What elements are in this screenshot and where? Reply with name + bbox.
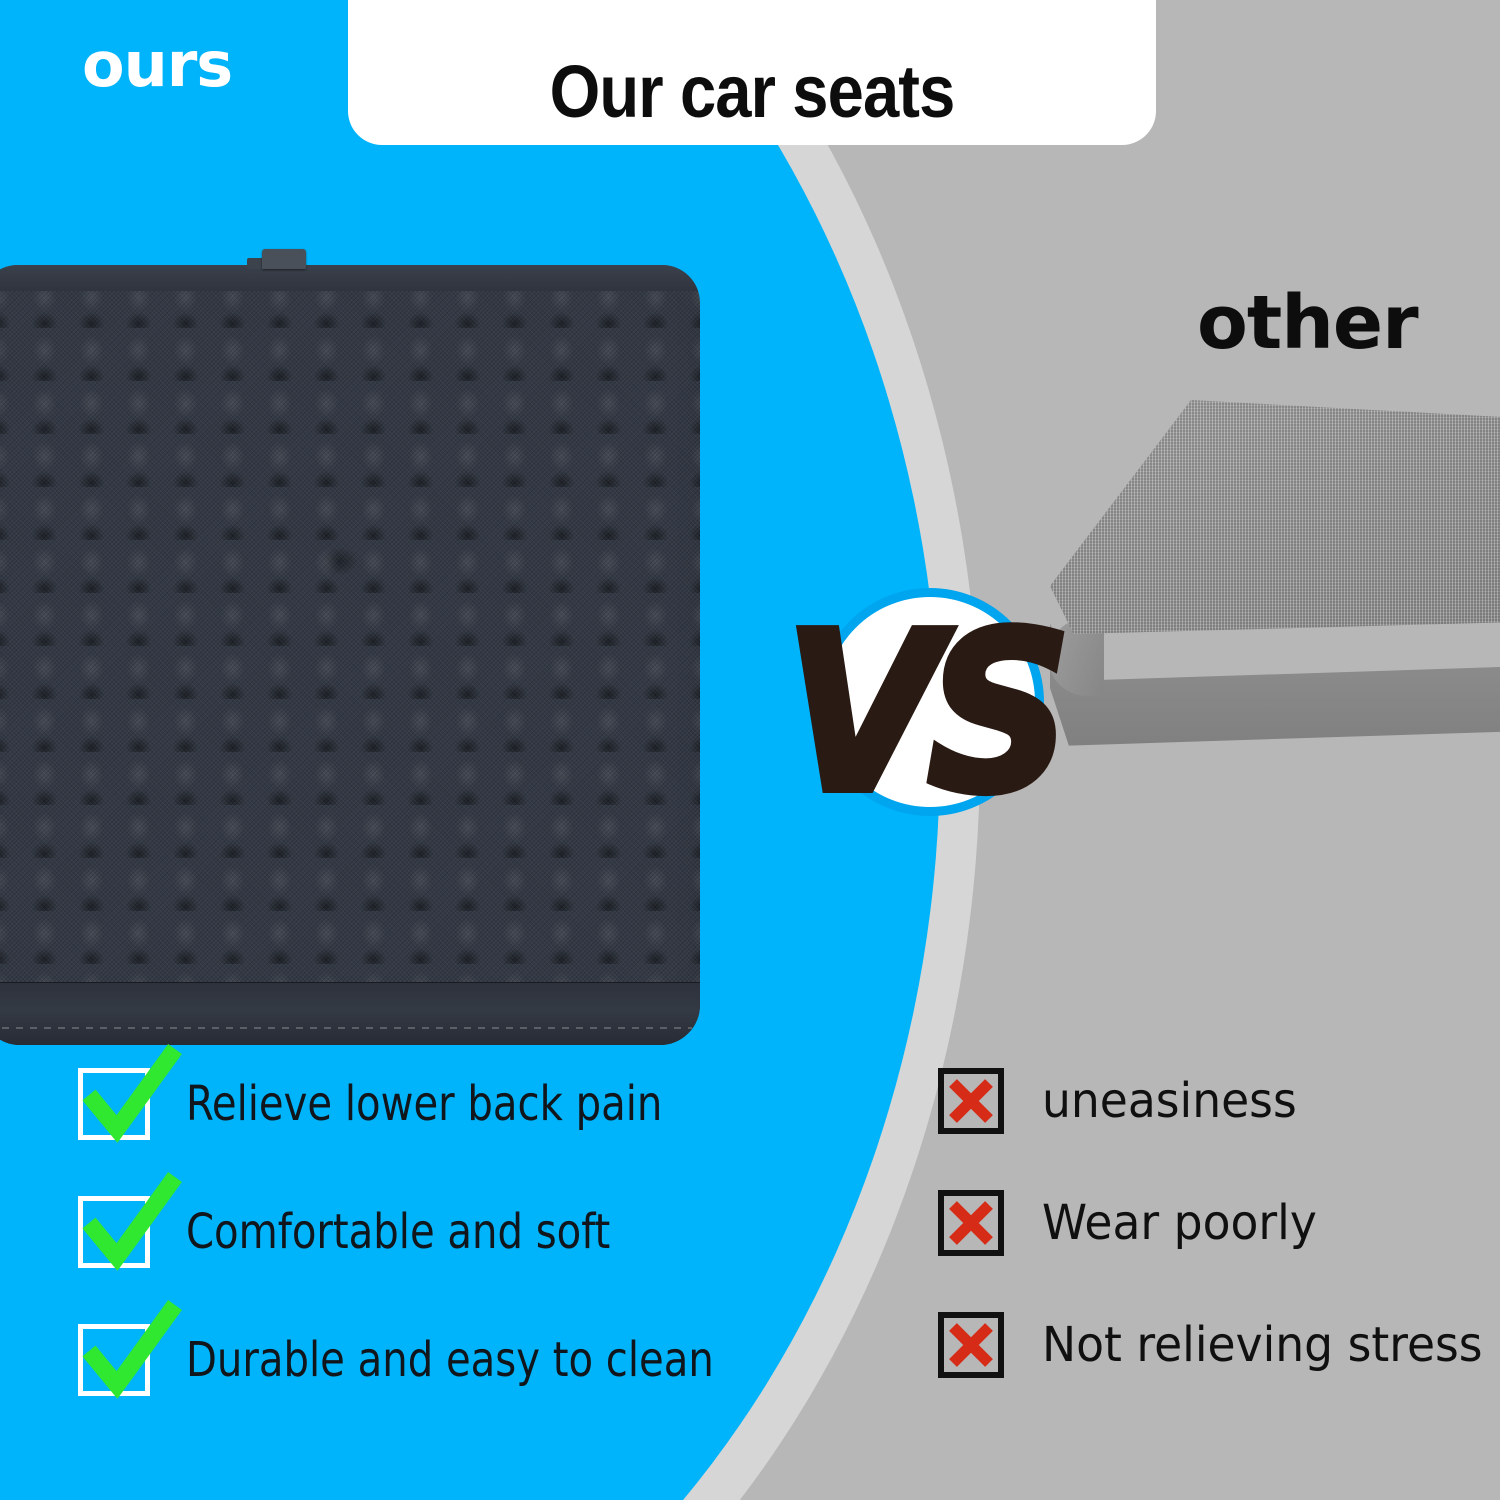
list-item: uneasiness bbox=[938, 1068, 1498, 1134]
list-item-label: Relieve lower back pain bbox=[186, 1080, 662, 1128]
list-item: Wear poorly bbox=[938, 1190, 1498, 1256]
cross-icon bbox=[941, 1071, 1001, 1131]
list-item: Relieve lower back pain bbox=[78, 1068, 778, 1140]
ours-label: ours bbox=[82, 34, 232, 96]
comparison-infographic: ours Our car seats other VS Relieve low bbox=[0, 0, 1500, 1500]
check-icon bbox=[75, 1299, 183, 1407]
cushion-bottom-border bbox=[0, 982, 700, 1045]
check-icon bbox=[75, 1171, 183, 1279]
other-label: other bbox=[1197, 286, 1418, 360]
list-item: Not relieving stress bbox=[938, 1312, 1498, 1378]
vs-label: VS bbox=[785, 568, 1058, 859]
crossbox-frame bbox=[938, 1068, 1004, 1134]
vs-badge: VS bbox=[788, 578, 1056, 846]
title-banner: Our car seats bbox=[348, 0, 1156, 145]
checkbox-frame bbox=[78, 1196, 150, 1268]
cross-icon bbox=[941, 1315, 1001, 1375]
list-item-label: Not relieving stress bbox=[1042, 1321, 1483, 1369]
crossbox-frame bbox=[938, 1312, 1004, 1378]
list-item-label: Wear poorly bbox=[1042, 1199, 1317, 1247]
crossbox-frame bbox=[938, 1190, 1004, 1256]
ours-cushion-image bbox=[0, 265, 700, 1045]
cross-icon bbox=[941, 1193, 1001, 1253]
zipper-pull-icon bbox=[262, 249, 306, 269]
pros-list: Relieve lower back pain Comfortable and … bbox=[78, 1068, 778, 1396]
checkbox-frame bbox=[78, 1068, 150, 1140]
page-title: Our car seats bbox=[550, 55, 955, 129]
list-item-label: Comfortable and soft bbox=[186, 1208, 610, 1256]
cushion-stitching bbox=[0, 1027, 692, 1029]
check-icon bbox=[75, 1043, 183, 1151]
slab-mesh-top bbox=[1050, 400, 1500, 700]
cons-list: uneasiness Wear poorly Not relieving str… bbox=[938, 1068, 1498, 1378]
list-item-label: Durable and easy to clean bbox=[186, 1336, 714, 1384]
list-item: Durable and easy to clean bbox=[78, 1324, 778, 1396]
checkbox-frame bbox=[78, 1324, 150, 1396]
cushion-top-band bbox=[0, 265, 700, 291]
list-item-label: uneasiness bbox=[1042, 1077, 1297, 1125]
list-item: Comfortable and soft bbox=[78, 1196, 778, 1268]
cushion-weave-texture bbox=[0, 265, 700, 1045]
other-cushion-image bbox=[1050, 400, 1500, 760]
